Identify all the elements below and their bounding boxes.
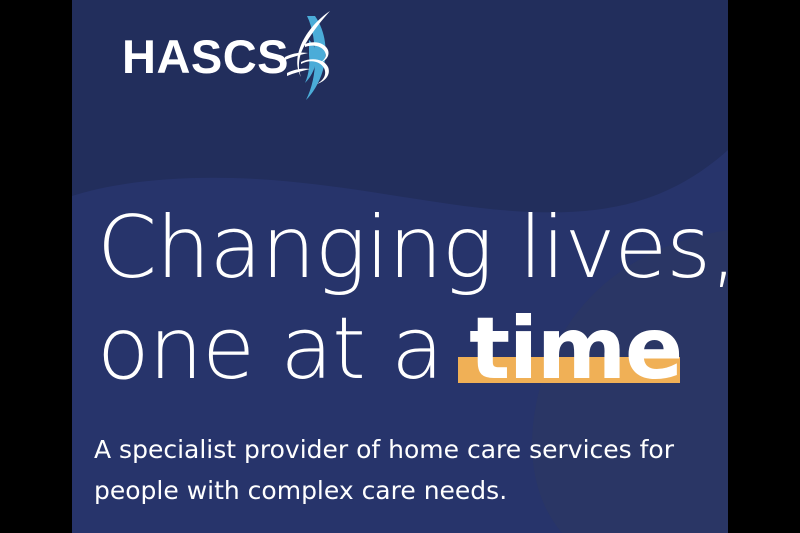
headline-line-2-prefix: one at a [97,299,469,399]
logo[interactable]: HASCS [122,20,337,92]
logo-wordmark: HASCS [122,33,289,80]
screenshot-stage: HASCS Changing lives, one at a time [0,0,800,533]
hero-banner: HASCS Changing lives, one at a time [72,0,728,533]
subtitle-line-1: A specialist provider of home care servi… [94,430,694,471]
subtitle: A specialist provider of home care servi… [94,430,694,511]
headline-line-2: one at a time [97,299,728,400]
hascs-swoosh-icon [285,10,337,102]
headline: Changing lives, one at a time [97,198,728,399]
headline-line-1: Changing lives, [97,198,728,299]
headline-emphasis-word: time [469,299,682,399]
subtitle-line-2: people with complex care needs. [94,471,694,512]
